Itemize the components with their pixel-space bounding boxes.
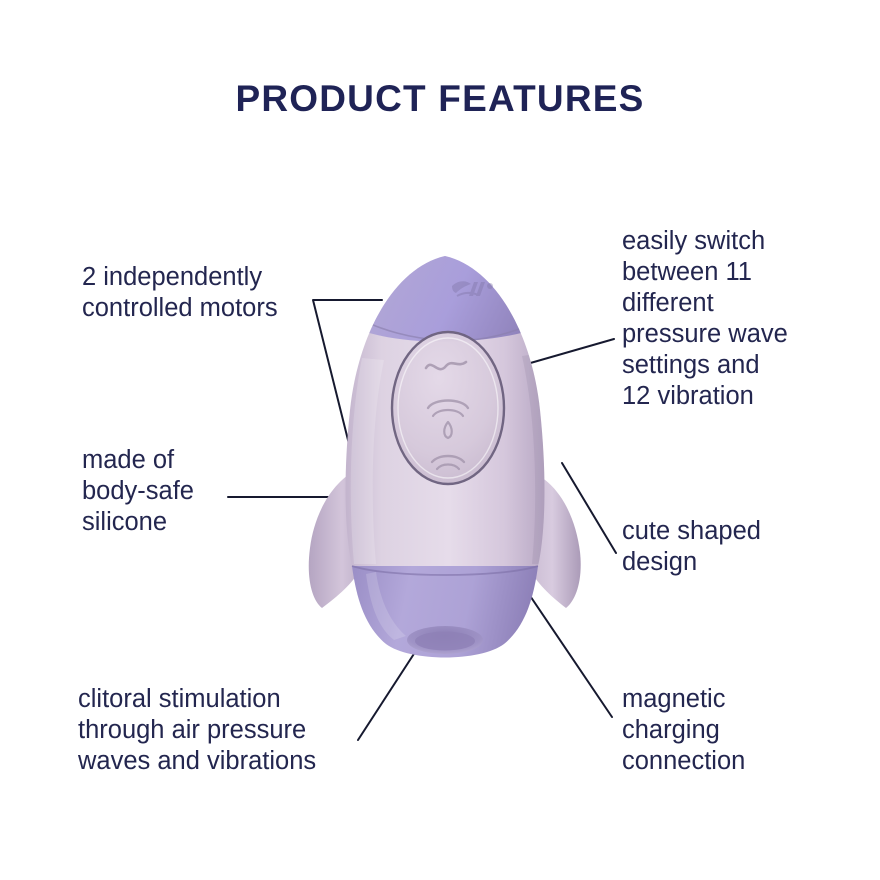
callout-motors: 2 independently controlled motors xyxy=(82,262,342,324)
infographic-canvas: PRODUCT FEATURES xyxy=(0,0,880,880)
page-title: PRODUCT FEATURES xyxy=(0,78,880,120)
nozzle-opening-inner xyxy=(415,632,475,651)
callout-silicone: made of body-safe silicone xyxy=(82,445,272,538)
callout-magnetic-charging: magnetic charging connection xyxy=(622,684,822,777)
product-illustration xyxy=(300,248,590,668)
callout-design: cute shaped design xyxy=(622,516,822,578)
control-panel-ring xyxy=(392,332,504,484)
callout-settings: easily switch between 11 different press… xyxy=(622,226,837,412)
control-panel[interactable] xyxy=(392,332,504,484)
nose-cone-fill xyxy=(330,248,560,342)
callout-clitoral-stimulation: clitoral stimulation through air pressur… xyxy=(78,684,378,777)
